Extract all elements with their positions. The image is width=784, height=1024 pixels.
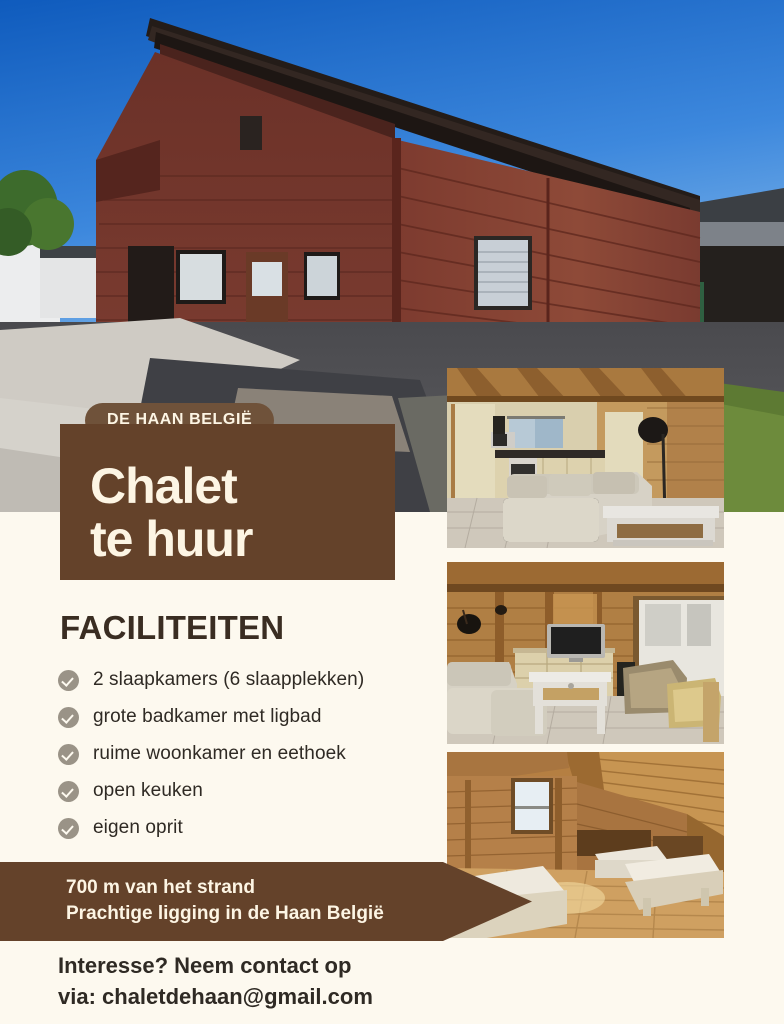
list-item: eigen oprit (58, 810, 438, 846)
contact-block: Interesse? Neem contact op via: chaletde… (58, 950, 578, 1012)
facility-label: eigen oprit (93, 817, 183, 839)
facilities-heading: FACILITEITEN (60, 609, 284, 647)
check-circle-icon (58, 707, 79, 728)
contact-line-1: Interesse? Neem contact op (58, 950, 578, 981)
title-line-2: te huur (90, 513, 390, 566)
list-item: grote badkamer met ligbad (58, 699, 438, 735)
check-circle-icon (58, 781, 79, 802)
banner-line-2: Prachtige ligging in de Haan België (66, 901, 384, 927)
banner-text: 700 m van het strand Prachtige ligging i… (66, 875, 384, 927)
list-item: ruime woonkamer en eethoek (58, 736, 438, 772)
banner-line-1: 700 m van het strand (66, 875, 384, 901)
title-card: Chalet te huur (60, 424, 395, 580)
title-line-1: Chalet (90, 460, 390, 513)
list-item: 2 slaapkamers (6 slaapplekken) (58, 662, 438, 698)
location-banner: 700 m van het strand Prachtige ligging i… (0, 862, 532, 941)
facility-label: 2 slaapkamers (6 slaapplekken) (93, 669, 364, 691)
check-circle-icon (58, 670, 79, 691)
check-circle-icon (58, 744, 79, 765)
contact-email[interactable]: via: chaletdehaan@gmail.com (58, 981, 578, 1012)
check-circle-icon (58, 818, 79, 839)
page-title: Chalet te huur (90, 460, 390, 566)
poster-root: DE HAAN BELGIË Chalet te huur (0, 0, 784, 1024)
facility-label: ruime woonkamer en eethoek (93, 743, 346, 765)
facilities-list: 2 slaapkamers (6 slaapplekken) grote bad… (58, 662, 438, 847)
list-item: open keuken (58, 773, 438, 809)
facility-label: grote badkamer met ligbad (93, 706, 322, 728)
living-room-photo (447, 562, 724, 744)
kitchen-living-photo (447, 368, 724, 548)
facility-label: open keuken (93, 780, 203, 802)
